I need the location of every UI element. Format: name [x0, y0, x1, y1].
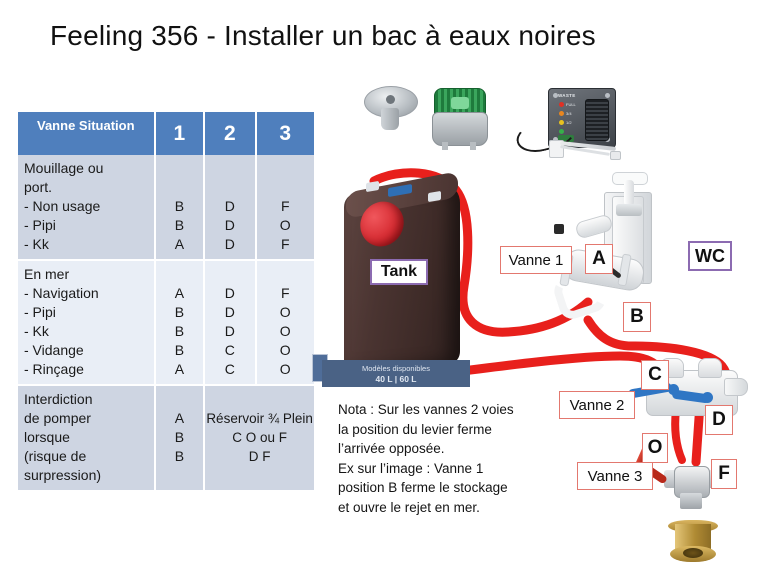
nota-text: Nota : Sur les vannes 2 voies la positio…: [338, 400, 556, 517]
label-point-a: A: [585, 244, 613, 274]
label-point-o: O: [642, 433, 668, 463]
header-valve-3: 3: [257, 112, 315, 155]
row-mouillage-v1: B B A: [156, 155, 206, 261]
label-point-b: B: [623, 302, 651, 332]
page-title: Feeling 356 - Installer un bac à eaux no…: [50, 20, 710, 52]
table-header-row: Vanne Situation 1 2 3: [18, 112, 314, 155]
label-wc: WC: [688, 241, 732, 271]
led-label-three-quarter: 3/4: [566, 111, 572, 116]
label-point-f: F: [711, 459, 737, 489]
panel-title: WASTE: [558, 93, 576, 98]
row-en-mer-v3: F O O O O: [257, 261, 315, 386]
table-row: Interdiction de pomper lorsque (risque d…: [18, 386, 314, 492]
brass-skin-fitting-illustration: [668, 510, 718, 566]
deck-fill-cap-icon: [364, 86, 416, 134]
row-en-mer-v2: D D D C C: [205, 261, 256, 386]
row-en-mer-v1: A B B B A: [156, 261, 206, 386]
label-point-c: C: [641, 360, 669, 390]
vent-filter-icon: [432, 88, 486, 150]
row-interdiction-note: Réservoir ¾ Plein C O ou F D F: [205, 386, 314, 492]
table-row: Mouillage ou port. - Non usage - Pipi - …: [18, 155, 314, 261]
row-situation-en-mer: En mer - Navigation - Pipi - Kk - Vidang…: [18, 261, 156, 386]
led-label-full: FULL: [566, 102, 576, 107]
valve-position-table: Vanne Situation 1 2 3 Mouillage ou port.…: [18, 112, 314, 492]
label-vanne-1: Vanne 1: [500, 246, 572, 274]
row-mouillage-v3: F O F: [257, 155, 315, 261]
label-tank: Tank: [370, 259, 428, 285]
banner-line-2: 40 L | 60 L: [376, 374, 417, 384]
label-vanne-3: Vanne 3: [577, 462, 653, 490]
header-situation: Vanne Situation: [18, 112, 156, 155]
header-valve-1: 1: [156, 112, 206, 155]
label-vanne-2: Vanne 2: [559, 391, 635, 419]
level-sensor-probe-icon: [516, 120, 620, 164]
row-interdiction-v1: A B B: [156, 386, 206, 492]
label-point-d: D: [705, 405, 733, 435]
slide-canvas: Feeling 356 - Installer un bac à eaux no…: [0, 0, 760, 570]
row-mouillage-v2: D D D: [205, 155, 256, 261]
banner-line-1: Modèles disponibles: [362, 364, 430, 373]
tank-model-banner: Modèles disponibles 40 L | 60 L: [322, 360, 470, 387]
row-situation-mouillage: Mouillage ou port. - Non usage - Pipi - …: [18, 155, 156, 261]
header-valve-2: 2: [205, 112, 256, 155]
table-row: En mer - Navigation - Pipi - Kk - Vidang…: [18, 261, 314, 386]
row-situation-interdiction: Interdiction de pomper lorsque (risque d…: [18, 386, 156, 492]
